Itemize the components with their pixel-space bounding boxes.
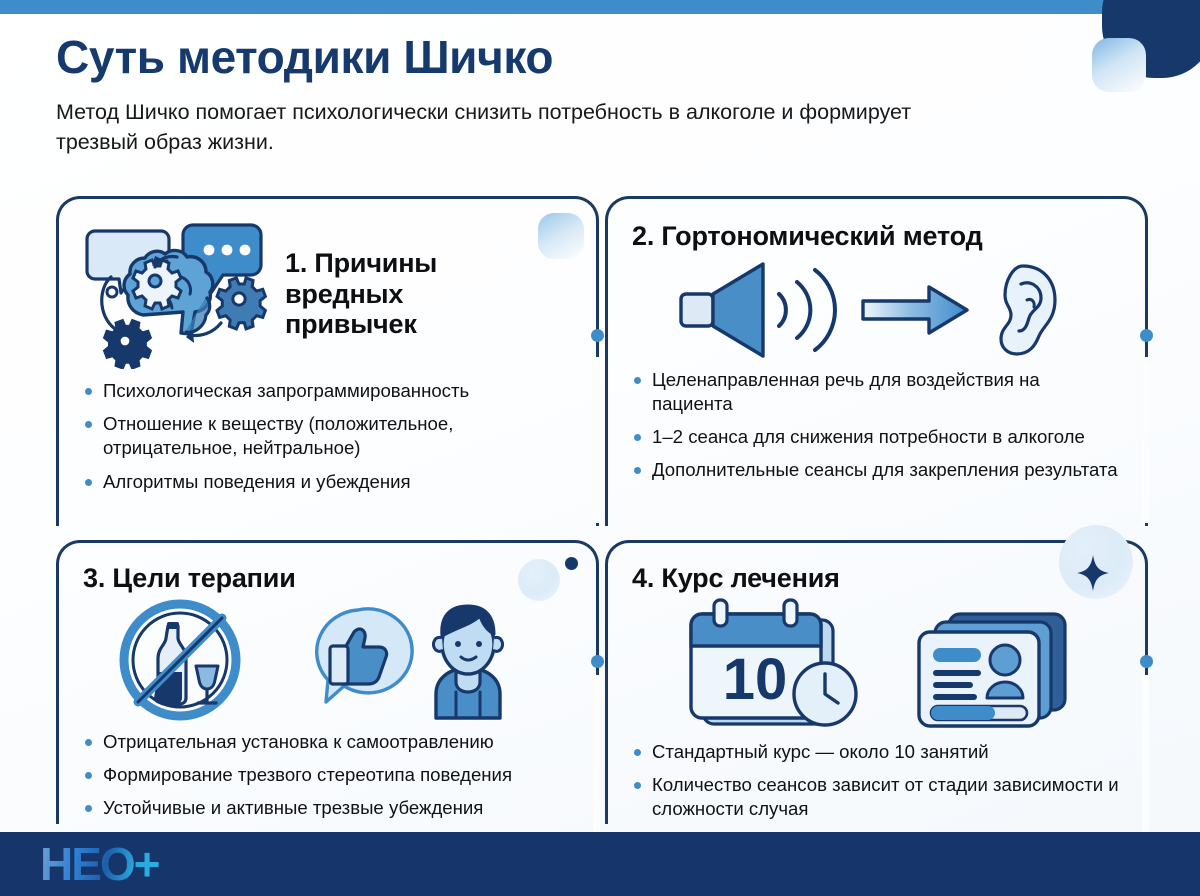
card-therapy-goals: 3. Цели терапии [56, 540, 599, 824]
card-header: 3. Цели терапии [81, 563, 574, 724]
speaker-arrow-ear-icon [630, 256, 1123, 364]
card-bullet-list: Стандартный курс — около 10 занятий Коли… [630, 740, 1123, 822]
decorative-gradient-square [1092, 38, 1146, 92]
card-bullet-list: Целенаправленная речь для воздействия на… [630, 368, 1123, 483]
card-edge-dot [591, 329, 604, 342]
border-gap-mask [593, 675, 600, 837]
card-bullet-list: Психологическая запрограммированность От… [81, 379, 574, 494]
list-item: 1–2 сеанса для снижения потребности в ал… [630, 425, 1123, 449]
card-title: 3. Цели терапии [83, 563, 574, 594]
card-treatment-course: 4. Курс лечения 10 [605, 540, 1148, 824]
card-header: 1. Причины вредных привычек [81, 215, 574, 369]
card-edge-dot [1140, 655, 1153, 668]
list-item: Отрицательная установка к самоотравлению [81, 730, 574, 754]
page-subtitle: Метод Шичко помогает психологически сниз… [56, 97, 956, 158]
infographic-poster: Суть методики Шичко Метод Шичко помогает… [0, 0, 1200, 896]
border-gap-mask [1142, 357, 1149, 523]
card-grid: 1. Причины вредных привычек Психологичес… [56, 196, 1148, 824]
card-bullet-list: Отрицательная установка к самоотравлению… [81, 730, 574, 821]
footer-bar: НЕО+ [0, 832, 1200, 896]
card-edge-dot [591, 655, 604, 668]
card-header: 4. Курс лечения 10 [630, 563, 1123, 730]
list-item: Формирование трезвого стереотипа поведен… [81, 763, 574, 787]
calendar-day-number: 10 [722, 647, 787, 712]
card-title: 4. Курс лечения [632, 563, 1123, 594]
border-gap-mask [1142, 675, 1149, 837]
card-edge-dot [1140, 329, 1153, 342]
list-item: Стандартный курс — около 10 занятий [630, 740, 1123, 764]
list-item: Алгоритмы поведения и убеждения [81, 470, 574, 494]
list-item: Психологическая запрограммированность [81, 379, 574, 403]
border-gap-mask [593, 357, 600, 523]
list-item: Целенаправленная речь для воздействия на… [630, 368, 1123, 416]
card-gortonomic-method: 2. Гортономический метод [605, 196, 1148, 526]
card-title: 2. Гортономический метод [632, 221, 1123, 252]
list-item: Дополнительные сеансы для закрепления ре… [630, 458, 1123, 482]
brain-gears-speech-icon [81, 219, 281, 369]
card-header: 2. Гортономический метод [630, 221, 1123, 364]
no-alcohol-thumbsup-person-icon [81, 596, 574, 724]
header: Суть методики Шичко Метод Шичко помогает… [56, 33, 1076, 158]
brand-logo: НЕО+ [40, 841, 159, 887]
calendar-clock-cards-icon: 10 [630, 598, 1123, 730]
list-item: Количество сеансов зависит от стадии зав… [630, 773, 1123, 821]
card-causes: 1. Причины вредных привычек Психологичес… [56, 196, 599, 526]
page-title: Суть методики Шичко [56, 33, 1076, 83]
card-title: 1. Причины вредных привычек [285, 248, 515, 340]
top-accent-bar [0, 0, 1200, 14]
list-item: Отношение к веществу (положительное, отр… [81, 412, 574, 460]
list-item: Устойчивые и активные трезвые убеждения [81, 796, 574, 820]
